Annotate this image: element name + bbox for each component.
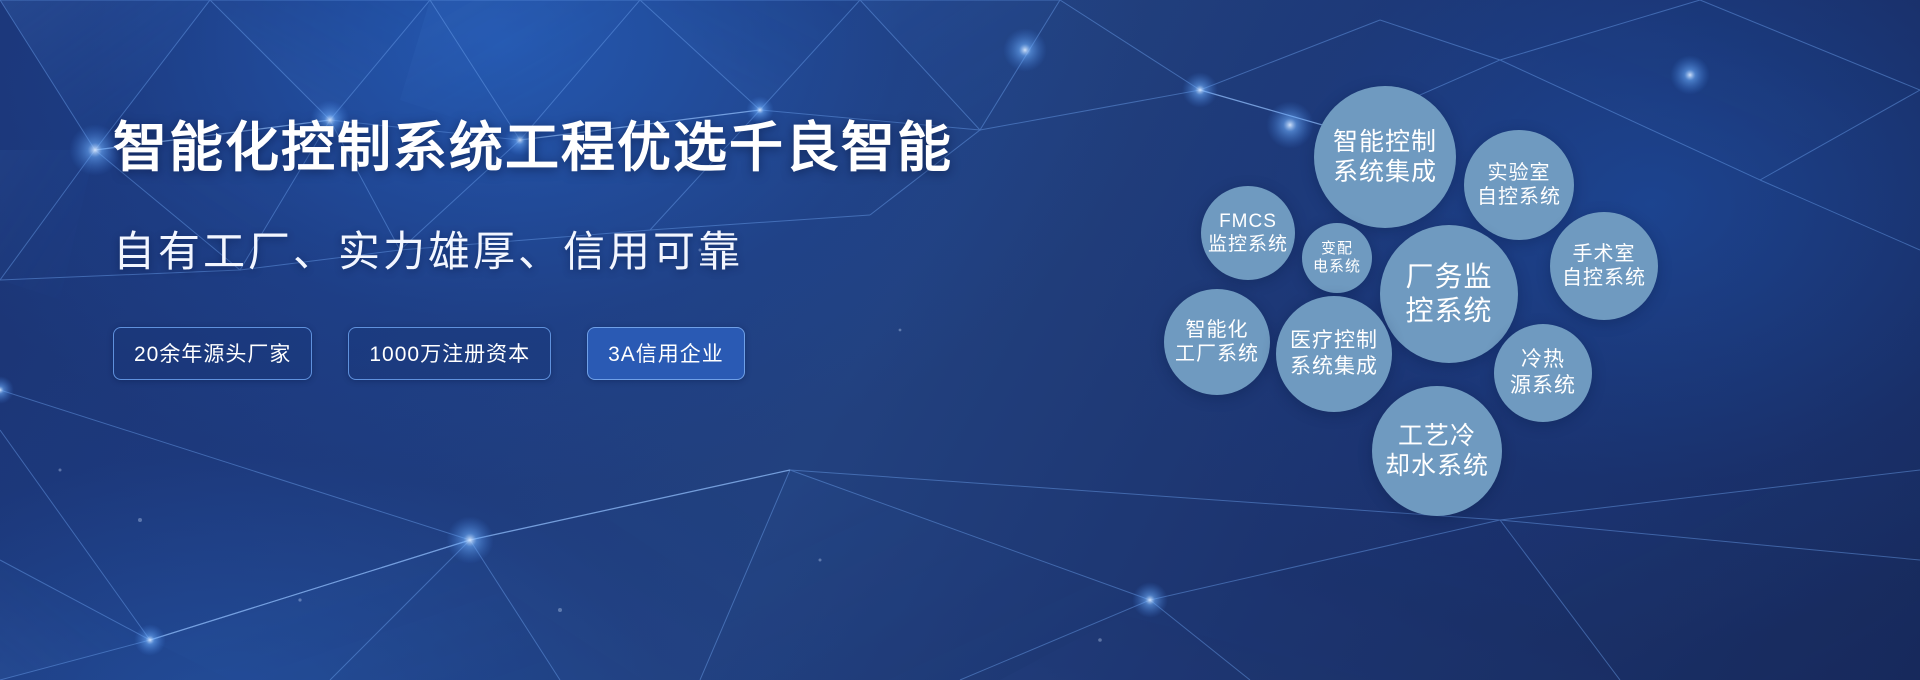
bubble-line-2: 却水系统 xyxy=(1385,451,1489,482)
bubble-line-2: 自控系统 xyxy=(1477,185,1561,209)
service-bubble-cluster: 智能控制 系统集成 实验室 自控系统 FMCS 监控系统 变配 电系统 xyxy=(0,0,1920,680)
bubble-line-1: 工艺冷 xyxy=(1385,421,1489,452)
bubble-process-cooling-water[interactable]: 工艺冷 却水系统 xyxy=(1372,386,1502,516)
bubble-medical-control-integration[interactable]: 医疗控制 系统集成 xyxy=(1276,296,1392,412)
bubble-fmcs-monitoring[interactable]: FMCS 监控系统 xyxy=(1201,186,1295,280)
bubble-line-2: 系统集成 xyxy=(1333,157,1437,188)
bubble-line-2: 工厂系统 xyxy=(1175,342,1259,366)
bubble-line-2: 系统集成 xyxy=(1290,354,1378,380)
bubble-line-1: 智能控制 xyxy=(1333,127,1437,158)
bubble-line-1: 实验室 xyxy=(1477,161,1561,185)
bubble-line-1: 智能化 xyxy=(1175,318,1259,342)
bubble-smart-factory[interactable]: 智能化 工厂系统 xyxy=(1164,289,1270,395)
hero-banner: 智能化控制系统工程优选千良智能 自有工厂、实力雄厚、信用可靠 20余年源头厂家 … xyxy=(0,0,1920,680)
bubble-power-distribution[interactable]: 变配 电系统 xyxy=(1302,223,1372,293)
bubble-heating-cooling-source[interactable]: 冷热 源系统 xyxy=(1494,324,1592,422)
bubble-line-2: 监控系统 xyxy=(1208,233,1288,256)
bubble-line-2: 控系统 xyxy=(1405,294,1492,328)
bubble-line-2: 电系统 xyxy=(1313,258,1361,276)
bubble-line-1: 手术室 xyxy=(1562,242,1646,266)
bubble-line-1: 变配 xyxy=(1313,240,1361,258)
bubble-line-1: 冷热 xyxy=(1510,347,1576,373)
bubble-facility-monitoring[interactable]: 厂务监 控系统 xyxy=(1380,225,1518,363)
bubble-line-2: 源系统 xyxy=(1510,373,1576,399)
bubble-intelligent-control-integration[interactable]: 智能控制 系统集成 xyxy=(1314,86,1456,228)
bubble-line-1: 厂务监 xyxy=(1405,260,1492,294)
bubble-line-1: 医疗控制 xyxy=(1290,328,1378,354)
bubble-operating-room-automation[interactable]: 手术室 自控系统 xyxy=(1550,212,1658,320)
bubble-line-1: FMCS xyxy=(1208,210,1288,233)
bubble-laboratory-automation[interactable]: 实验室 自控系统 xyxy=(1464,130,1574,240)
bubble-line-2: 自控系统 xyxy=(1562,266,1646,290)
